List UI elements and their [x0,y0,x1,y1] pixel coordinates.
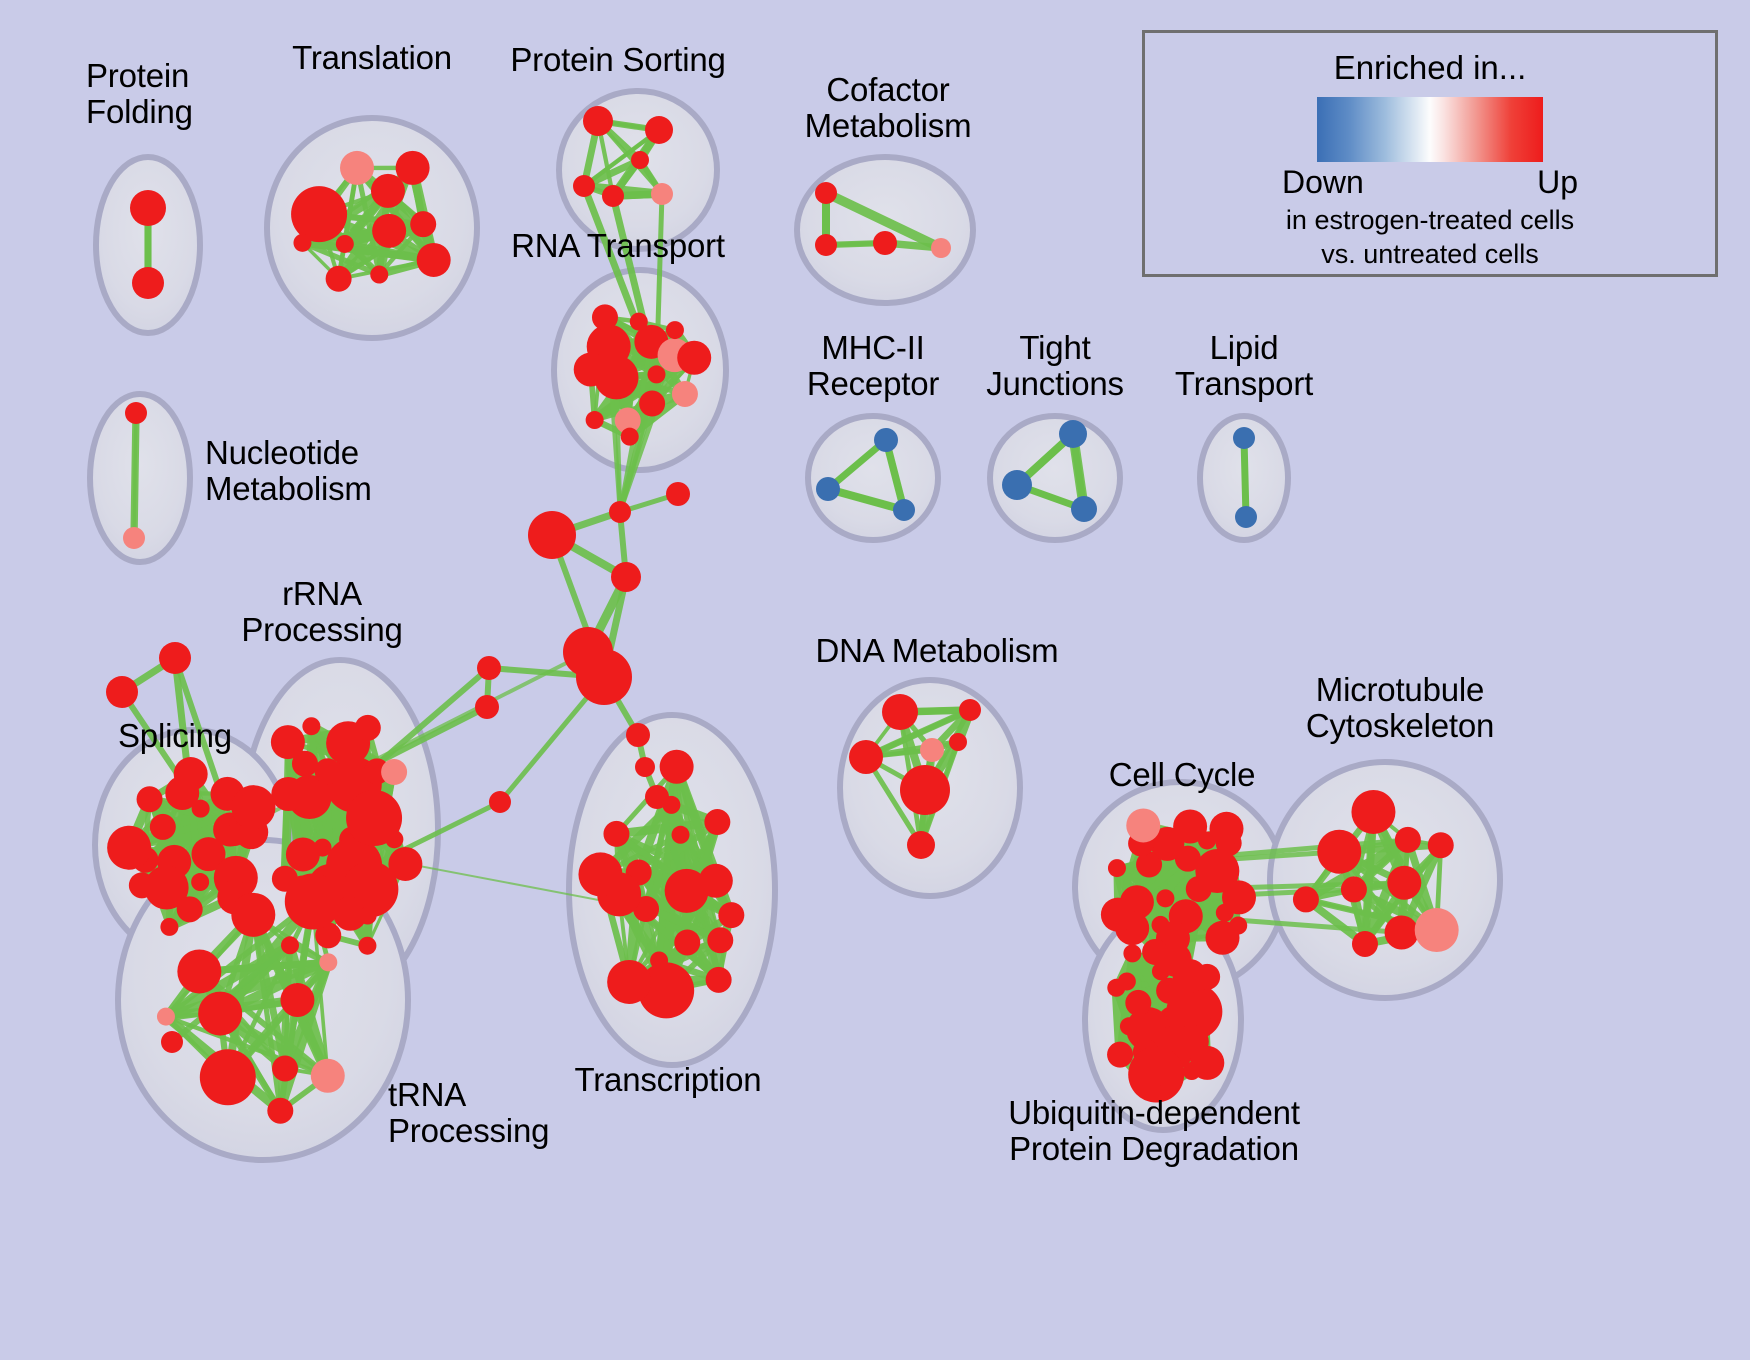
graph-node[interactable] [475,695,499,719]
graph-node[interactable] [1395,827,1421,853]
graph-node[interactable] [198,992,242,1036]
graph-node[interactable] [159,642,191,674]
graph-node[interactable] [603,821,629,847]
graph-node[interactable] [417,243,451,277]
graph-node[interactable] [355,715,381,741]
graph-node[interactable] [160,918,178,936]
graph-node[interactable] [381,759,407,785]
graph-node[interactable] [1101,898,1135,932]
graph-node[interactable] [1071,496,1097,522]
legend-color-gradient-bar [1317,97,1543,162]
graph-node[interactable] [1352,931,1378,957]
graph-node[interactable] [174,757,208,791]
graph-node[interactable] [359,907,377,925]
graph-node[interactable] [311,1059,345,1093]
cluster-label-nucleotide-metabolism: Nucleotide Metabolism [205,435,372,506]
graph-node[interactable] [137,786,163,812]
graph-node[interactable] [1428,832,1454,858]
cluster-label-dna-metabolism: DNA Metabolism [816,633,1059,669]
graph-node[interactable] [907,831,935,859]
graph-node[interactable] [157,1008,175,1026]
graph-node[interactable] [900,765,950,815]
graph-node[interactable] [107,826,151,870]
graph-node[interactable] [370,266,388,284]
cluster-label-lipid-transport: Lipid Transport [1175,330,1313,401]
graph-node[interactable] [477,656,501,680]
graph-node[interactable] [125,402,147,424]
graph-node[interactable] [385,830,403,848]
graph-node[interactable] [672,826,690,844]
graph-node[interactable] [326,266,352,292]
graph-node[interactable] [1197,1017,1215,1035]
graph-node[interactable] [882,694,918,730]
graph-node[interactable] [1108,859,1126,877]
cluster-hull-protein-sorting [559,91,717,249]
cluster-label-protein-sorting: Protein Sorting [510,42,725,78]
graph-node[interactable] [1173,809,1207,843]
graph-node[interactable] [1002,470,1032,500]
graph-node[interactable] [358,937,376,955]
legend-caption-line-1: in estrogen-treated cells [1145,205,1715,235]
graph-node[interactable] [815,234,837,256]
graph-node[interactable] [271,777,305,811]
graph-node[interactable] [893,499,915,521]
graph-node[interactable] [677,341,711,375]
graph-node[interactable] [396,151,430,185]
graph-node[interactable] [130,190,166,226]
graph-node[interactable] [874,428,898,452]
graph-node[interactable] [949,733,967,751]
graph-node[interactable] [592,304,618,330]
graph-node[interactable] [704,809,730,835]
graph-node[interactable] [340,151,374,185]
graph-node[interactable] [931,238,951,258]
graph-node[interactable] [602,185,624,207]
graph-node[interactable] [586,411,604,429]
graph-node[interactable] [1194,964,1220,990]
graph-node[interactable] [1107,1042,1133,1068]
graph-node[interactable] [631,151,649,169]
graph-node[interactable] [1341,876,1367,902]
graph-node[interactable] [177,896,203,922]
graph-node[interactable] [1317,830,1361,874]
graph-node[interactable] [706,967,732,993]
graph-node[interactable] [302,717,320,735]
graph-node[interactable] [1235,506,1257,528]
graph-node[interactable] [672,381,698,407]
graph-node[interactable] [578,852,622,896]
graph-node[interactable] [161,1031,183,1053]
graph-node[interactable] [1059,420,1087,448]
graph-node[interactable] [699,864,733,898]
graph-node[interactable] [1107,979,1125,997]
graph-node[interactable] [815,182,837,204]
graph-node[interactable] [1126,808,1160,842]
cluster-label-tight-junctions: Tight Junctions [986,330,1124,401]
graph-node[interactable] [920,738,944,762]
graph-node[interactable] [873,231,897,255]
cluster-label-trna-processing: tRNA Processing [388,1077,549,1148]
graph-node[interactable] [231,893,275,937]
legend-title: Enriched in... [1145,49,1715,87]
cluster-label-mhc-ii-receptor: MHC-II Receptor [807,330,939,401]
graph-node[interactable] [200,1049,256,1105]
graph-node[interactable] [630,313,648,331]
graph-node[interactable] [489,791,511,813]
graph-node[interactable] [621,428,639,446]
graph-node[interactable] [583,106,613,136]
graph-node[interactable] [336,235,354,253]
graph-node[interactable] [573,175,595,197]
cluster-label-translation: Translation [292,40,452,76]
cluster-label-ubiquitin-protein-degradation: Ubiquitin-dependent Protein Degradation [1008,1095,1300,1166]
graph-node[interactable] [1120,1017,1138,1035]
graph-node[interactable] [271,725,305,759]
cluster-label-splicing: Splicing [118,718,232,754]
graph-node[interactable] [626,723,650,747]
graph-node[interactable] [123,527,145,549]
graph-node[interactable] [639,391,665,417]
graph-node[interactable] [1125,990,1151,1016]
legend-high-label: Up [1537,164,1578,201]
graph-node[interactable] [959,699,981,721]
graph-node[interactable] [645,785,669,809]
graph-node[interactable] [651,183,673,205]
graph-node[interactable] [410,211,436,237]
graph-node[interactable] [132,267,164,299]
graph-node[interactable] [280,983,314,1017]
graph-node[interactable] [281,936,299,954]
graph-node[interactable] [285,873,341,929]
graph-node[interactable] [315,758,341,784]
graph-node[interactable] [645,116,673,144]
graph-node[interactable] [528,511,576,559]
graph-node[interactable] [150,814,176,840]
graph-node[interactable] [286,837,320,871]
cluster-label-cofactor-metabolism: Cofactor Metabolism [805,72,972,143]
graph-node[interactable] [849,740,883,774]
cluster-label-rna-transport: RNA Transport [511,228,725,264]
graph-node[interactable] [666,482,690,506]
graph-node[interactable] [607,960,651,1004]
legend-panel: Enriched in... Down Up in estrogen-treat… [1142,30,1718,277]
graph-node[interactable] [635,757,655,777]
graph-node[interactable] [1415,908,1459,952]
graph-node[interactable] [574,353,608,387]
cluster-label-protein-folding: Protein Folding [86,58,193,129]
graph-edge [134,413,136,538]
graph-node[interactable] [224,824,246,846]
graph-edge [1244,438,1246,517]
network-diagram-canvas: Protein FoldingTranslationProtein Sortin… [0,0,1750,1360]
graph-node[interactable] [388,847,422,881]
graph-node[interactable] [707,927,733,953]
graph-node[interactable] [1222,880,1256,914]
graph-node[interactable] [272,1055,298,1081]
graph-node[interactable] [106,676,138,708]
graph-node[interactable] [718,902,744,928]
graph-node[interactable] [372,214,406,248]
graph-node[interactable] [1385,916,1419,950]
graph-node[interactable] [1190,1046,1224,1080]
graph-node[interactable] [660,750,694,784]
legend-low-label: Down [1282,164,1364,201]
graph-node[interactable] [1158,943,1192,977]
graph-node[interactable] [267,1098,293,1124]
graph-node[interactable] [1123,944,1141,962]
graph-node[interactable] [291,186,347,242]
graph-node[interactable] [666,321,684,339]
graph-node[interactable] [647,365,665,383]
cluster-label-transcription: Transcription [575,1062,762,1098]
graph-node[interactable] [1233,427,1255,449]
graph-node[interactable] [177,949,221,993]
graph-node[interactable] [1387,866,1421,900]
graph-node[interactable] [1229,917,1247,935]
cluster-label-rrna-processing: rRNA Processing [241,576,402,647]
graph-node[interactable] [1209,812,1243,846]
graph-node[interactable] [319,953,337,971]
graph-node[interactable] [674,929,700,955]
graph-node[interactable] [1156,889,1174,907]
cluster-label-cell-cycle: Cell Cycle [1109,757,1256,793]
legend-caption-line-2: vs. untreated cells [1145,239,1715,269]
graph-node[interactable] [191,873,209,891]
graph-node[interactable] [231,785,275,829]
cluster-label-microtubule-cytoskeleton: Microtubule Cytoskeleton [1306,672,1494,743]
graph-node[interactable] [293,234,311,252]
graph-node[interactable] [611,562,641,592]
graph-node[interactable] [129,872,155,898]
graph-node[interactable] [1293,886,1319,912]
graph-node[interactable] [609,501,631,523]
graph-node[interactable] [576,649,632,705]
graph-node[interactable] [1351,790,1395,834]
graph-node[interactable] [816,477,840,501]
